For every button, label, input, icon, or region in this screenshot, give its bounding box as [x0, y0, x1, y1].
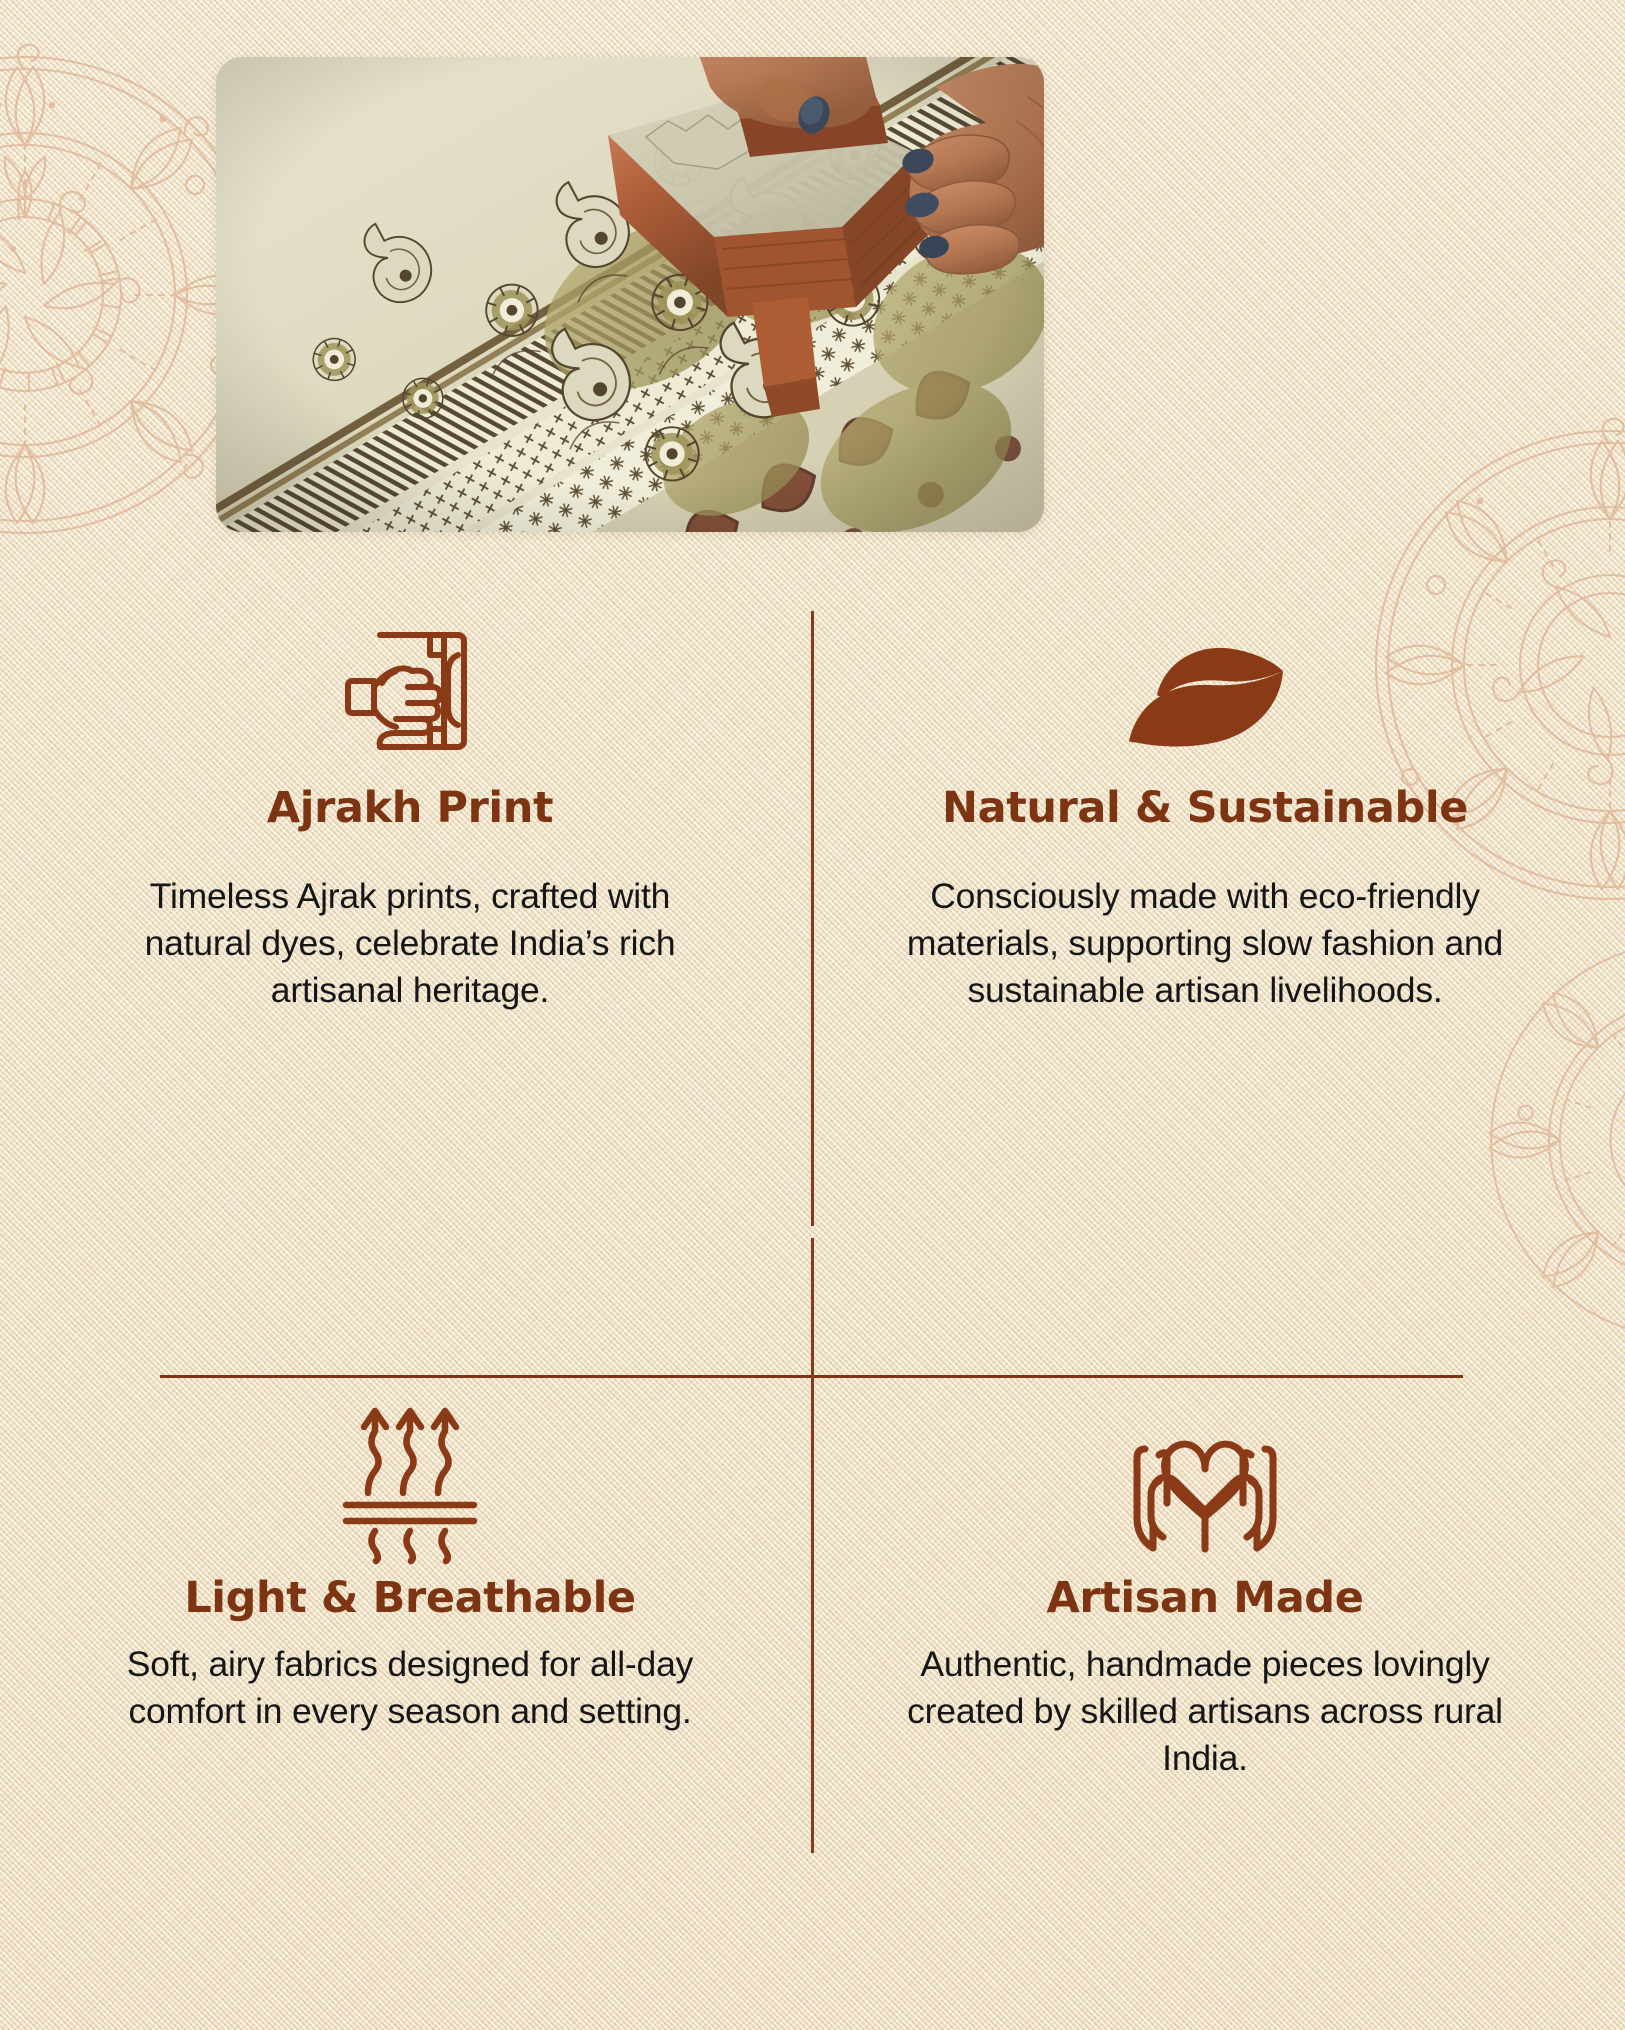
feature-description: Consciously made with eco-friendly mater…: [895, 873, 1515, 1015]
feature-title: Artisan Made: [855, 1573, 1555, 1623]
feature-description: Authentic, handmade pieces lovingly crea…: [895, 1641, 1515, 1783]
hero-image: Artisan hands pressing a carved wooden b…: [216, 57, 1044, 532]
feature-title: Light & Breathable: [60, 1573, 760, 1623]
feature-title: Ajrakh Print: [60, 783, 760, 833]
divider-vertical-bottom: [811, 1238, 814, 1853]
feature-grid: Ajrakh Print Timeless Ajrak prints, craf…: [0, 615, 1625, 1915]
hand-block-print-icon: [60, 625, 760, 757]
divider-vertical-top: [811, 611, 814, 1226]
feature-card-light-breathable: Light & Breathable Soft, airy fabrics de…: [60, 1415, 760, 1735]
feature-card-natural-sustainable: Natural & Sustainable Consciously made w…: [855, 625, 1555, 1015]
feature-card-ajrakh-print: Ajrakh Print Timeless Ajrak prints, craf…: [60, 625, 760, 1015]
breathable-airflow-icon: [60, 1415, 760, 1547]
feature-description: Timeless Ajrak prints, crafted with natu…: [100, 873, 720, 1015]
hands-holding-heart-icon: [855, 1415, 1555, 1547]
feature-title: Natural & Sustainable: [855, 783, 1555, 833]
leaf-icon: [855, 625, 1555, 757]
feature-card-artisan-made: Artisan Made Authentic, handmade pieces …: [855, 1415, 1555, 1783]
feature-description: Soft, airy fabrics designed for all-day …: [100, 1641, 720, 1735]
